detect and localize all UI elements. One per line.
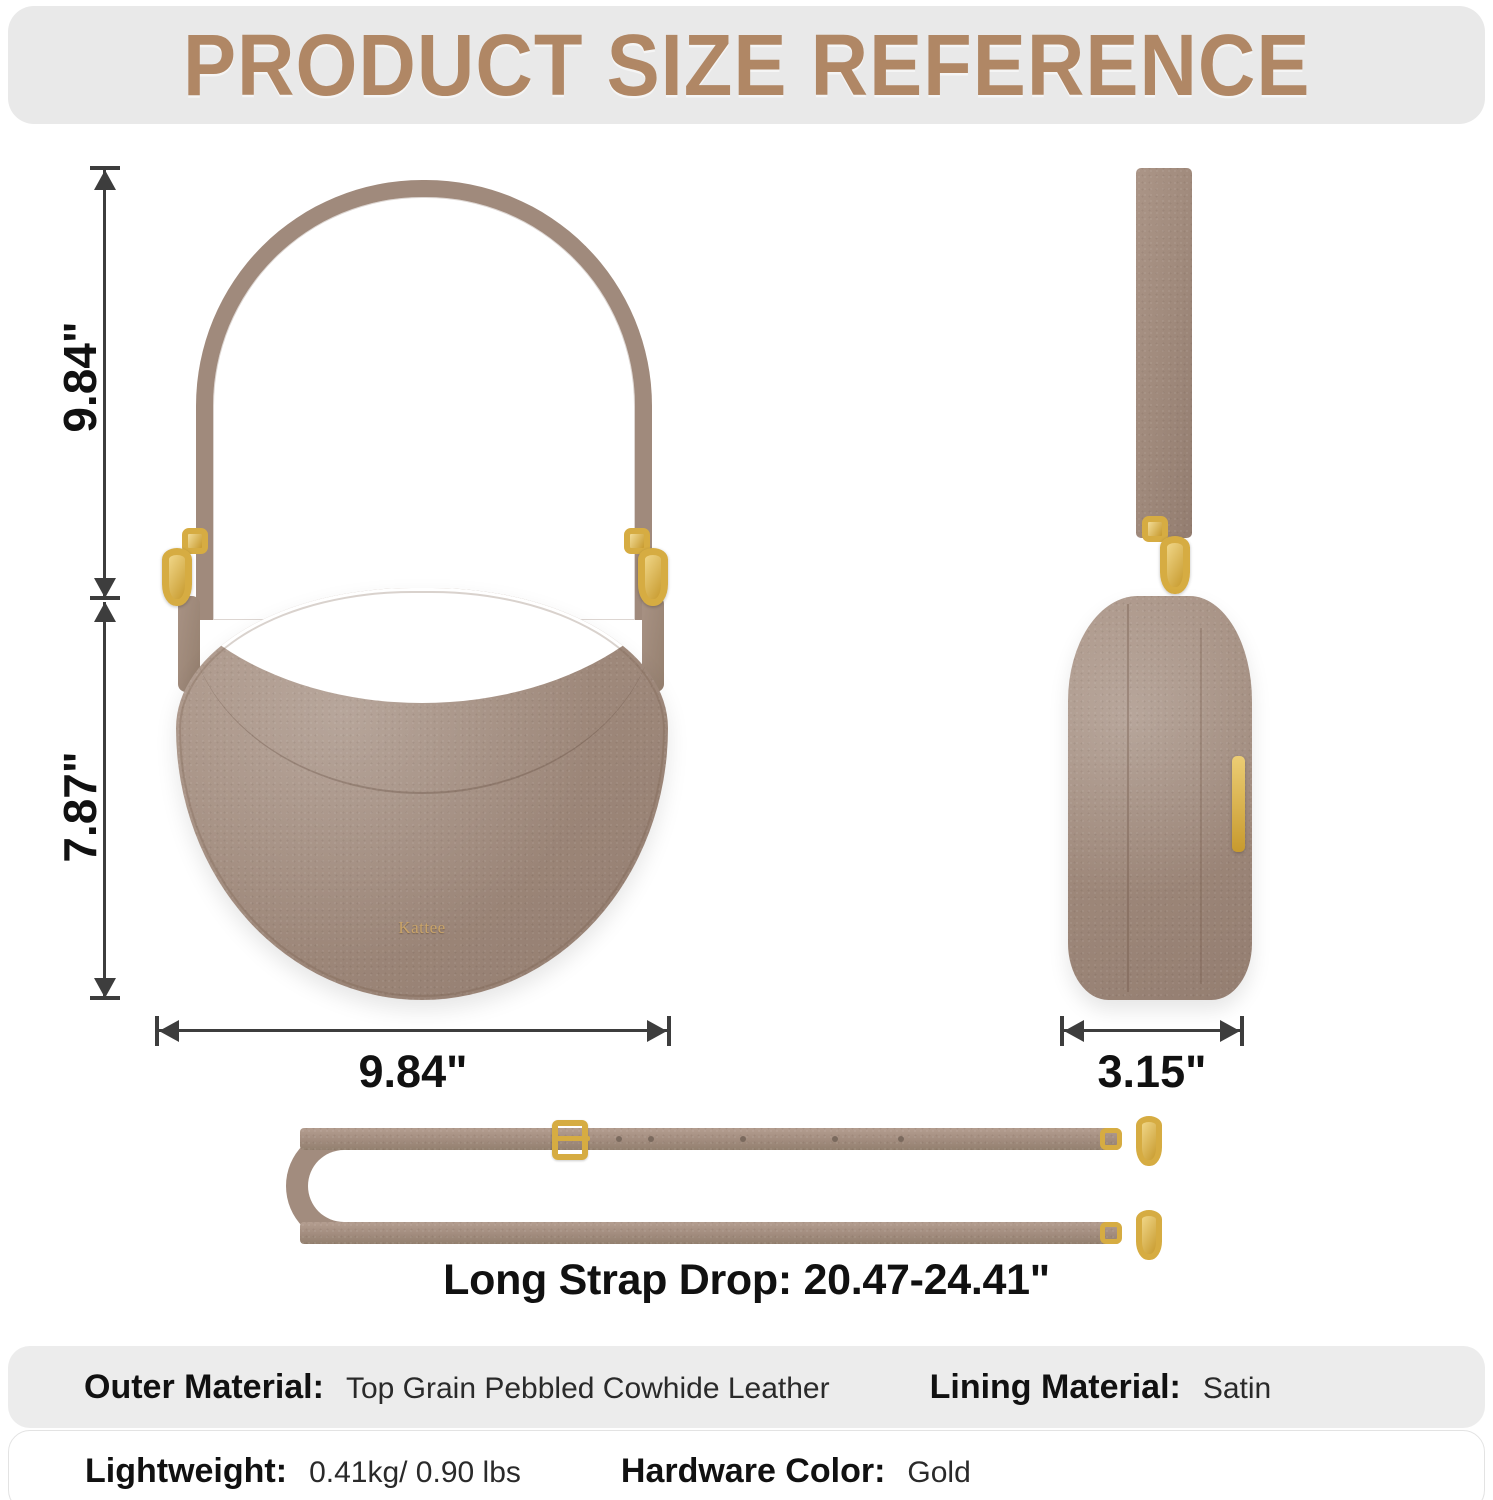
long-strap-clasp-top bbox=[1136, 1116, 1162, 1166]
dimension-cap-middle bbox=[90, 596, 120, 600]
brand-logo: Kattee bbox=[398, 918, 445, 938]
long-strap-upper bbox=[300, 1128, 1120, 1150]
long-strap-clasp-bottom bbox=[1136, 1210, 1162, 1260]
dimension-label-body-height: 7.87" bbox=[53, 722, 107, 892]
spec-row-materials: Outer Material: Top Grain Pebbled Cowhid… bbox=[8, 1346, 1485, 1428]
side-leather-grain bbox=[1068, 596, 1252, 1000]
arrow-up-body-height bbox=[94, 602, 116, 622]
strap-hole bbox=[616, 1136, 622, 1142]
dimension-label-width: 9.84" bbox=[155, 1046, 671, 1098]
spec-row-weight: Lightweight: 0.41kg/ 0.90 lbs Hardware C… bbox=[8, 1430, 1485, 1500]
spec-value-lightweight: 0.41kg/ 0.90 lbs bbox=[309, 1456, 521, 1490]
spec-cell-lightweight: Lightweight: 0.41kg/ 0.90 lbs bbox=[85, 1452, 521, 1491]
arrow-right-width bbox=[647, 1020, 667, 1042]
side-shoulder-strap bbox=[1136, 168, 1192, 538]
shoulder-strap bbox=[196, 180, 652, 620]
strap-buckle-prong bbox=[556, 1136, 590, 1141]
arrow-down-strap-drop bbox=[94, 578, 116, 598]
spec-cell-hardware-color: Hardware Color: Gold bbox=[621, 1452, 971, 1491]
width-dimension-line bbox=[159, 1029, 667, 1032]
spec-value-outer-material: Top Grain Pebbled Cowhide Leather bbox=[346, 1372, 830, 1406]
strap-hole bbox=[740, 1136, 746, 1142]
zipper-pull-icon bbox=[1232, 756, 1245, 852]
arrow-left-width bbox=[159, 1020, 179, 1042]
spec-value-lining-material: Satin bbox=[1203, 1372, 1271, 1406]
strap-hole bbox=[898, 1136, 904, 1142]
dimension-label-depth: 3.15" bbox=[1060, 1046, 1244, 1098]
long-strap-upper-grain bbox=[300, 1128, 1120, 1150]
spec-key-outer-material: Outer Material: bbox=[84, 1368, 324, 1407]
long-strap-lower bbox=[300, 1222, 1120, 1244]
spec-value-hardware-color: Gold bbox=[907, 1456, 970, 1490]
product-size-reference-page: PRODUCT SIZE REFERENCE 9.84" 7.87" bbox=[0, 0, 1493, 1500]
strap-hole bbox=[648, 1136, 654, 1142]
header-banner: PRODUCT SIZE REFERENCE bbox=[8, 6, 1485, 124]
long-strap-ring-top bbox=[1100, 1128, 1122, 1150]
long-strap-drop-label: Long Strap Drop: 20.47-24.41" bbox=[0, 1256, 1493, 1305]
bag-body-front: Kattee bbox=[176, 588, 668, 1000]
arrow-down-body-height bbox=[94, 978, 116, 998]
arrow-right-depth bbox=[1220, 1020, 1240, 1042]
width-cap-right bbox=[667, 1016, 671, 1046]
arrow-left-depth bbox=[1064, 1020, 1084, 1042]
strap-hole bbox=[832, 1136, 838, 1142]
spec-key-lining-material: Lining Material: bbox=[930, 1368, 1181, 1407]
spec-cell-lining-material: Lining Material: Satin bbox=[930, 1368, 1272, 1407]
bag-body-side bbox=[1068, 596, 1252, 1000]
side-seam-front bbox=[1127, 604, 1129, 992]
side-seam-back bbox=[1200, 628, 1202, 984]
spec-key-hardware-color: Hardware Color: bbox=[621, 1452, 886, 1491]
depth-cap-right bbox=[1240, 1016, 1244, 1046]
side-strap-grain bbox=[1136, 168, 1192, 538]
dimension-cap-bottom bbox=[90, 996, 120, 1000]
depth-dimension-line bbox=[1064, 1029, 1240, 1032]
side-lobster-clasp bbox=[1160, 536, 1190, 594]
arrow-up-strap-drop bbox=[94, 170, 116, 190]
spec-key-lightweight: Lightweight: bbox=[85, 1452, 287, 1491]
long-strap-ring-bottom bbox=[1100, 1222, 1122, 1244]
page-title: PRODUCT SIZE REFERENCE bbox=[183, 14, 1311, 116]
spec-cell-outer-material: Outer Material: Top Grain Pebbled Cowhid… bbox=[84, 1368, 830, 1407]
dimension-label-strap-drop: 9.84" bbox=[53, 292, 107, 462]
long-strap-lower-grain bbox=[300, 1222, 1120, 1244]
